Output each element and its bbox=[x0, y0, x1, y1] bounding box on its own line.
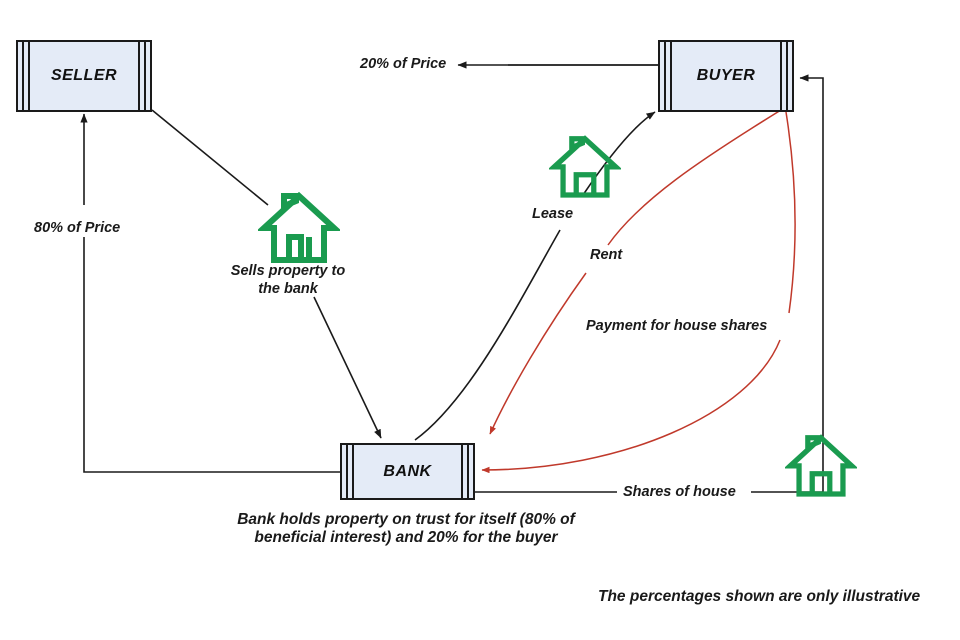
component-bar-right bbox=[780, 42, 788, 110]
component-bar-right bbox=[461, 445, 469, 498]
component-bar-left bbox=[22, 42, 30, 110]
house-icon-sells-property bbox=[258, 188, 340, 271]
sells-property-line-2: the bank bbox=[258, 281, 318, 297]
sells-property-line-1: Sells property to bbox=[231, 263, 345, 279]
node-bank[interactable]: BANK bbox=[340, 443, 475, 500]
component-bar-left bbox=[664, 42, 672, 110]
edge-label-payment-shares: Payment for house shares bbox=[582, 317, 771, 335]
house-icon bbox=[549, 130, 621, 202]
edge-label-sells-property: Sells property to the bank bbox=[222, 262, 354, 298]
house-icon-lease bbox=[549, 130, 621, 207]
edge-payment-shares bbox=[482, 112, 795, 470]
component-bar-right bbox=[138, 42, 146, 110]
bank-trust-line-2: beneficial interest) and 20% for the buy… bbox=[254, 529, 557, 546]
edge-rent bbox=[490, 110, 781, 434]
node-buyer-label: BUYER bbox=[697, 67, 756, 85]
diagram-canvas: SELLER BUYER BANK 20% of Price 80% of Pr… bbox=[0, 0, 960, 640]
house-icon bbox=[785, 430, 857, 500]
bank-trust-line-1: Bank holds property on trust for itself … bbox=[237, 511, 575, 528]
edge-label-shares-of-house: Shares of house bbox=[619, 483, 740, 501]
node-bank-label: BANK bbox=[383, 463, 431, 481]
annotation-footnote: The percentages shown are only illustrat… bbox=[598, 588, 920, 606]
house-icon-shares bbox=[785, 430, 857, 505]
edge-label-eighty-percent: 80% of Price bbox=[30, 219, 124, 237]
node-seller[interactable]: SELLER bbox=[16, 40, 152, 112]
edge-label-rent: Rent bbox=[586, 246, 626, 264]
edge-label-lease: Lease bbox=[528, 205, 577, 223]
annotation-bank-trust: Bank holds property on trust for itself … bbox=[186, 511, 626, 547]
edge-shares-of-house bbox=[475, 78, 823, 492]
node-seller-label: SELLER bbox=[51, 67, 117, 85]
house-icon bbox=[258, 188, 340, 266]
component-bar-left bbox=[346, 445, 354, 498]
node-buyer[interactable]: BUYER bbox=[658, 40, 794, 112]
edge-label-twenty-percent: 20% of Price bbox=[356, 55, 450, 73]
